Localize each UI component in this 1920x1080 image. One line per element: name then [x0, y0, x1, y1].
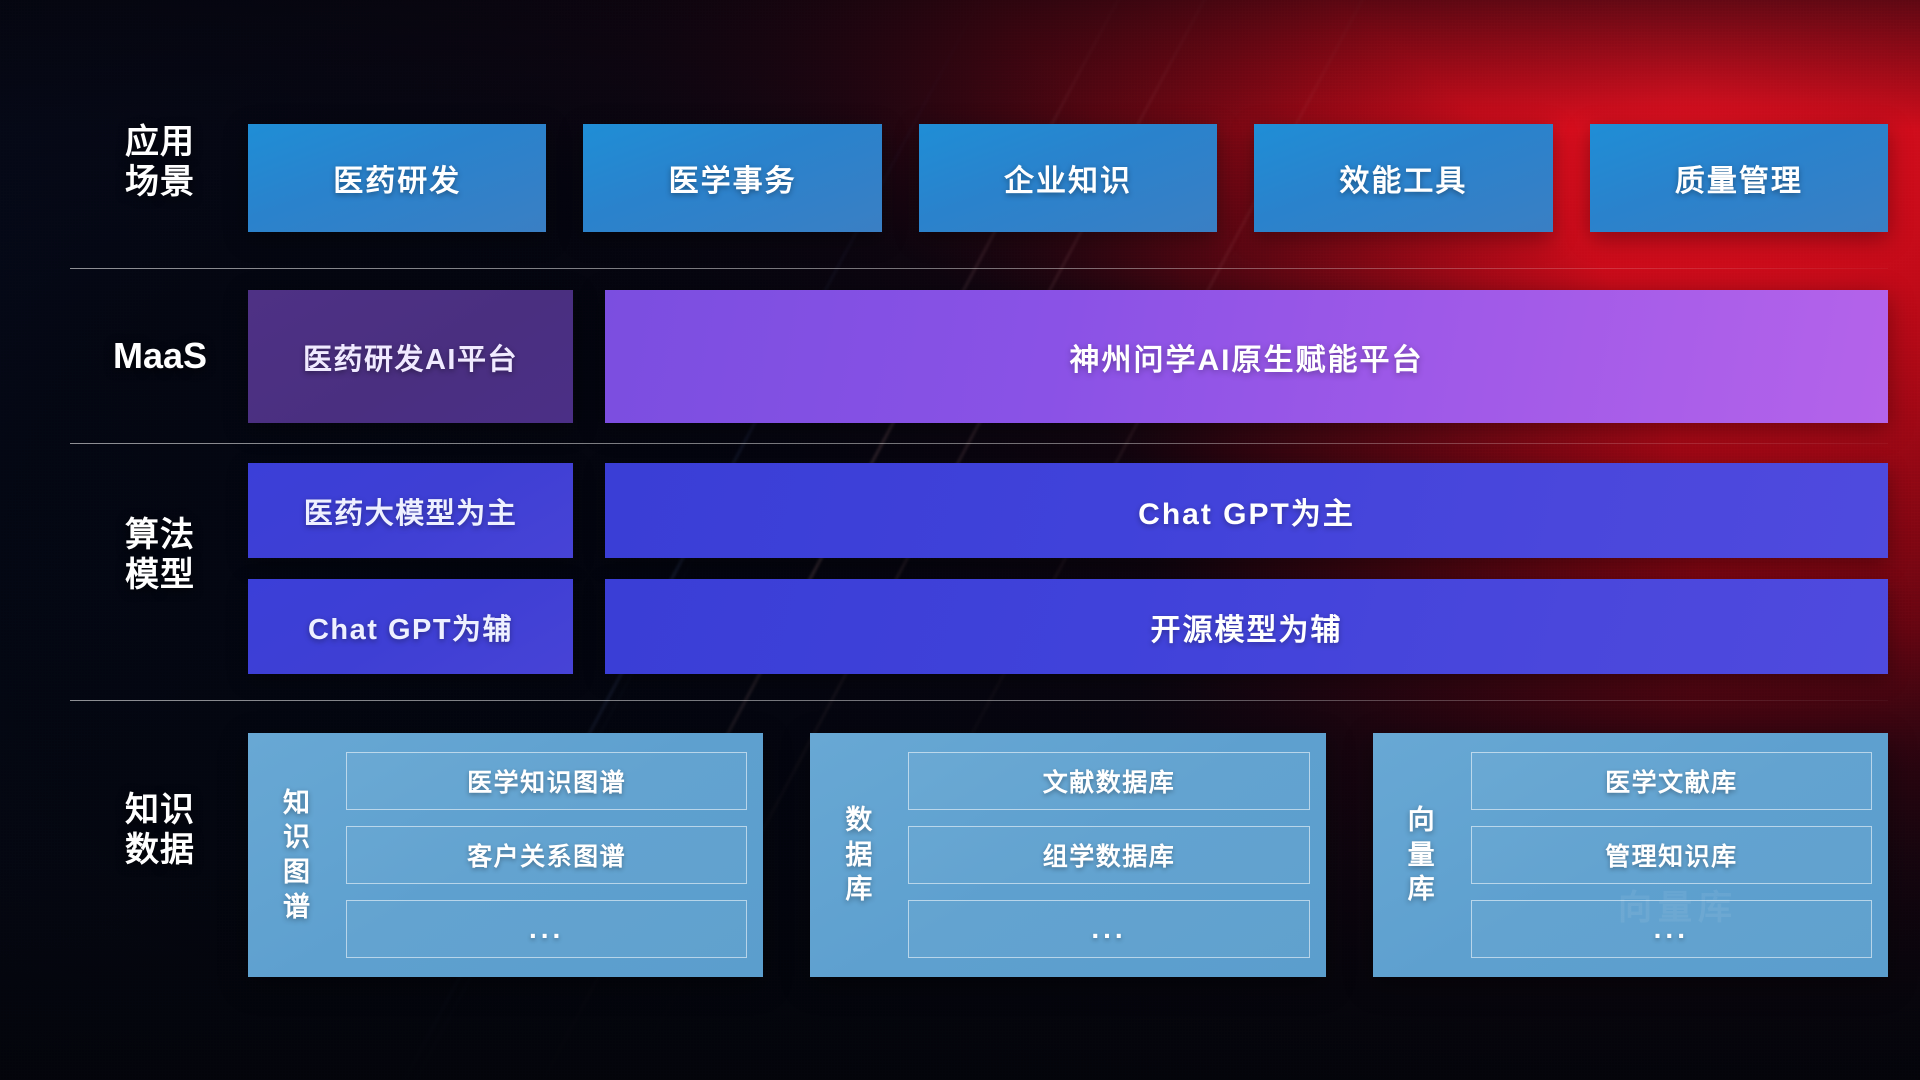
app-card-label: 医药研发	[333, 156, 461, 200]
knowledge-panel-knowledge-graph[interactable]: 知 识 图 谱 医学知识图谱 客户关系图谱 ...	[248, 733, 763, 977]
app-card-efficiency-tools[interactable]: 效能工具	[1254, 124, 1552, 232]
knowledge-item-omics-database[interactable]: 组学数据库	[908, 826, 1309, 884]
knowledge-item-label: 文献数据库	[1043, 763, 1176, 799]
divider-after-application	[70, 268, 1888, 269]
app-card-label: 质量管理	[1675, 156, 1803, 200]
knowledge-panel-title-char: 库	[1408, 872, 1436, 907]
knowledge-panel-title: 知 识 图 谱	[260, 747, 334, 963]
knowledge-item-label: 组学数据库	[1043, 837, 1176, 873]
app-card-quality-management[interactable]: 质量管理	[1590, 124, 1888, 232]
knowledge-item-more[interactable]: ...	[346, 900, 747, 958]
knowledge-panel-vector-store[interactable]: 向 量 库 医学文献库 管理知识库 ...	[1373, 733, 1888, 977]
row-label-maas-line-1: MaaS	[70, 335, 250, 377]
slide-canvas: 应用 场景 医药研发 医学事务 企业知识 效能工具 质量管理 MaaS 医药研发…	[0, 0, 1920, 1080]
knowledge-item-medical-knowledge-graph[interactable]: 医学知识图谱	[346, 752, 747, 810]
row-label-knowledge-line-2: 数据	[70, 830, 250, 870]
row-label-maas: MaaS	[70, 335, 250, 377]
maas-card-drug-rd-ai-platform[interactable]: 医药研发AI平台	[248, 290, 573, 423]
diagram-content: 应用 场景 医药研发 医学事务 企业知识 效能工具 质量管理 MaaS 医药研发…	[0, 0, 1920, 1080]
knowledge-item-list: 医学知识图谱 客户关系图谱 ...	[334, 747, 747, 963]
row-label-knowledge: 知识 数据	[70, 790, 250, 870]
maas-right-label: 神州问学AI原生赋能平台	[1070, 335, 1424, 379]
knowledge-item-management-knowledge-store[interactable]: 管理知识库	[1471, 826, 1872, 884]
knowledge-panel-title-char: 据	[845, 838, 873, 873]
row-label-application-line-1: 应用	[70, 122, 250, 162]
algo-card-label: Chat GPT为辅	[308, 606, 513, 648]
divider-after-maas	[70, 443, 1888, 444]
knowledge-panel-title-char: 向	[1408, 803, 1436, 838]
knowledge-item-label: ...	[1654, 913, 1689, 945]
application-card-group: 医药研发 医学事务 企业知识 效能工具 质量管理	[248, 124, 1888, 232]
app-card-medical-affairs[interactable]: 医学事务	[583, 124, 881, 232]
row-label-algorithm-line-2: 模型	[70, 555, 250, 595]
row-label-knowledge-line-1: 知识	[70, 790, 250, 830]
knowledge-panel-title-char: 谱	[283, 890, 311, 925]
knowledge-panel-title: 数 据 库	[822, 747, 896, 963]
divider-after-algorithm	[70, 700, 1888, 701]
algorithm-card-group: 医药大模型为主 Chat GPT为主 Chat GPT为辅 开源模型为辅	[248, 463, 1888, 674]
knowledge-item-label: 管理知识库	[1605, 837, 1738, 873]
knowledge-item-label: ...	[1091, 913, 1126, 945]
knowledge-item-label: 客户关系图谱	[467, 837, 626, 873]
knowledge-item-label: 医学知识图谱	[467, 763, 626, 799]
knowledge-panel-title-char: 数	[845, 803, 873, 838]
knowledge-item-list: 医学文献库 管理知识库 ...	[1459, 747, 1872, 963]
algo-card-label: 医药大模型为主	[304, 490, 518, 532]
algo-card-chatgpt-primary[interactable]: Chat GPT为主	[605, 463, 1888, 558]
knowledge-panel-title-char: 知	[283, 786, 311, 821]
knowledge-panel-title-char: 识	[283, 820, 311, 855]
knowledge-item-medical-literature-store[interactable]: 医学文献库	[1471, 752, 1872, 810]
algorithm-line-primary: 医药大模型为主 Chat GPT为主	[248, 463, 1888, 558]
maas-card-group: 医药研发AI平台 神州问学AI原生赋能平台	[248, 290, 1888, 423]
algo-card-opensource-secondary[interactable]: 开源模型为辅	[605, 579, 1888, 674]
app-card-label: 医学事务	[669, 156, 797, 200]
algorithm-line-secondary: Chat GPT为辅 开源模型为辅	[248, 579, 1888, 674]
app-card-drug-rd[interactable]: 医药研发	[248, 124, 546, 232]
knowledge-item-more[interactable]: ...	[908, 900, 1309, 958]
app-card-enterprise-knowledge[interactable]: 企业知识	[919, 124, 1217, 232]
maas-card-shenzhou-wenxue-platform[interactable]: 神州问学AI原生赋能平台	[605, 290, 1888, 423]
algo-card-label: 开源模型为辅	[1151, 605, 1343, 649]
knowledge-item-literature-database[interactable]: 文献数据库	[908, 752, 1309, 810]
row-label-algorithm: 算法 模型	[70, 515, 250, 595]
knowledge-item-customer-relation-graph[interactable]: 客户关系图谱	[346, 826, 747, 884]
maas-left-label: 医药研发AI平台	[303, 336, 518, 378]
knowledge-panel-title-char: 量	[1408, 838, 1436, 873]
knowledge-item-list: 文献数据库 组学数据库 ...	[896, 747, 1309, 963]
knowledge-panel-title-char: 图	[283, 855, 311, 890]
algo-card-drug-large-model-primary[interactable]: 医药大模型为主	[248, 463, 573, 558]
knowledge-panel-title-char: 库	[845, 872, 873, 907]
knowledge-item-more[interactable]: ...	[1471, 900, 1872, 958]
knowledge-panel-title: 向 量 库	[1385, 747, 1459, 963]
row-label-application: 应用 场景	[70, 122, 250, 202]
row-label-algorithm-line-1: 算法	[70, 515, 250, 555]
algo-card-chatgpt-secondary[interactable]: Chat GPT为辅	[248, 579, 573, 674]
app-card-label: 企业知识	[1004, 156, 1132, 200]
app-card-label: 效能工具	[1339, 156, 1467, 200]
knowledge-panel-database[interactable]: 数 据 库 文献数据库 组学数据库 ...	[810, 733, 1325, 977]
knowledge-panel-group: 知 识 图 谱 医学知识图谱 客户关系图谱 ... 数 据	[248, 733, 1888, 977]
algo-card-label: Chat GPT为主	[1138, 489, 1355, 533]
knowledge-item-label: 医学文献库	[1605, 763, 1738, 799]
knowledge-item-label: ...	[529, 913, 564, 945]
row-label-application-line-2: 场景	[70, 162, 250, 202]
